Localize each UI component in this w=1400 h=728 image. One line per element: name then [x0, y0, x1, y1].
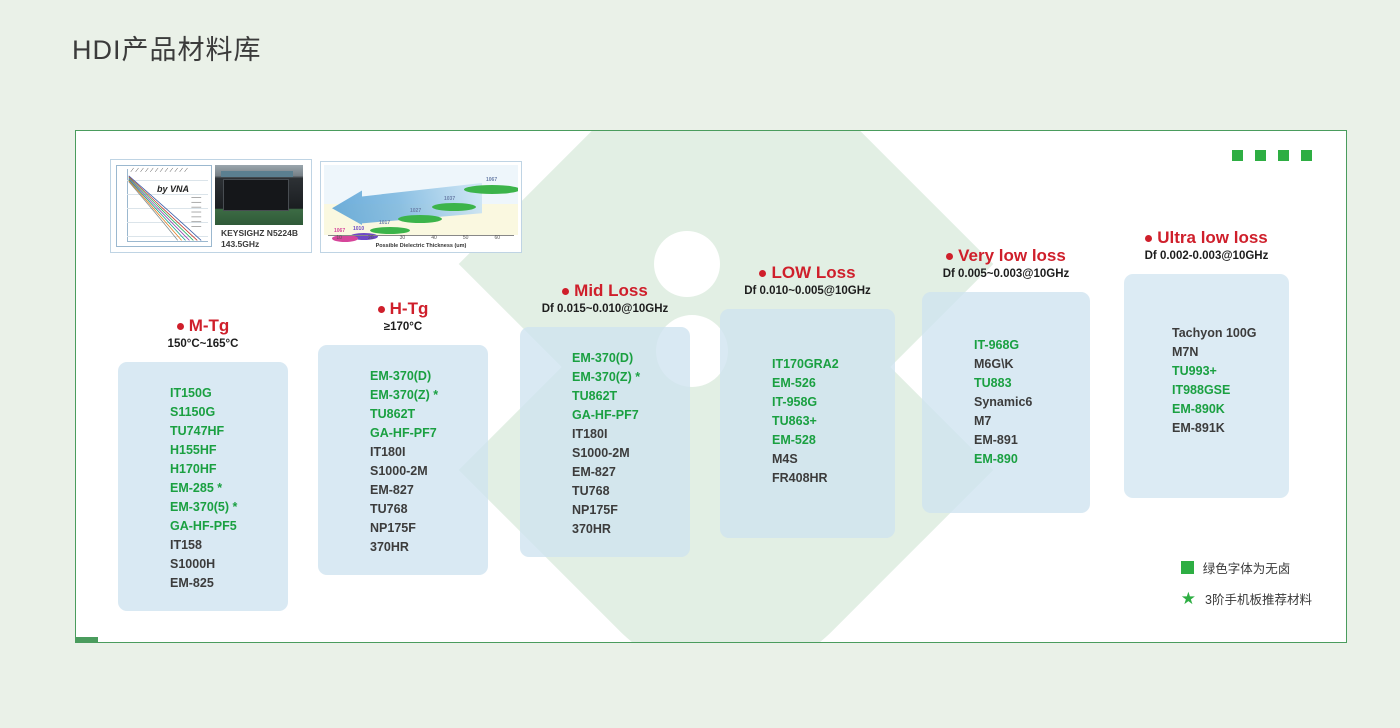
- material-item: IT988GSE: [1124, 381, 1289, 400]
- green-square-icon: [1255, 150, 1266, 161]
- material-list: IT150G S1150G TU747HF H155HF H170HF EM-2…: [118, 362, 288, 611]
- bullet-icon: [946, 253, 953, 260]
- column-title: Very low loss: [958, 246, 1066, 266]
- glass-style-label: 1067: [486, 177, 497, 183]
- column-title-wrap: H-Tg: [378, 299, 429, 319]
- material-list: Tachyon 100G M7N TU993+ IT988GSE EM-890K…: [1124, 274, 1289, 498]
- material-item: EM-825: [118, 574, 288, 593]
- material-item: EM-890: [922, 450, 1090, 469]
- vna-curves-icon: [117, 166, 211, 246]
- vna-caption-line2: 143.5GHz: [221, 239, 298, 250]
- material-item: GA-HF-PF7: [318, 424, 488, 443]
- glass-style-label: 1017: [379, 220, 390, 226]
- material-item: EM-827: [318, 481, 488, 500]
- material-item: S1150G: [118, 403, 288, 422]
- glass-style-label: 1010: [353, 226, 364, 232]
- legend-label: 绿色字体为无卤: [1203, 558, 1291, 577]
- column-subtitle: Df 0.015~0.010@10GHz: [520, 303, 690, 315]
- material-item: EM-285 *: [118, 479, 288, 498]
- material-item: EM-370(5) *: [118, 498, 288, 517]
- vna-measurement-panel: by VNA KEYSIGHZ N5224B 143.5GHz: [110, 159, 312, 253]
- column-title-wrap: Mid Loss: [562, 281, 648, 301]
- material-item: S1000H: [118, 555, 288, 574]
- bullet-icon: [378, 306, 385, 313]
- vna-instrument-photo: [215, 165, 303, 225]
- material-item: 370HR: [318, 538, 488, 557]
- legend: 绿色字体为无卤 ★ 3阶手机板推荐材料: [1181, 558, 1312, 620]
- tick-label: 60: [494, 235, 500, 241]
- legend-item-halogen-free: 绿色字体为无卤: [1181, 558, 1312, 577]
- bullet-icon: [1145, 235, 1152, 242]
- bullet-icon: [562, 288, 569, 295]
- bullet-icon: [759, 270, 766, 277]
- material-item: EM-370(Z) *: [318, 386, 488, 405]
- material-item: EM-370(D): [520, 349, 690, 368]
- material-item: M7: [922, 412, 1090, 431]
- tick-label: 30: [400, 235, 406, 241]
- glass-style-marker: [370, 227, 410, 234]
- material-item: IT158: [118, 536, 288, 555]
- legend-label: 3阶手机板推荐材料: [1205, 589, 1312, 608]
- vna-chart-image: by VNA: [116, 165, 212, 247]
- material-item: EM-370(D): [318, 367, 488, 386]
- column-h-tg: H-Tg ≥170°C EM-370(D) EM-370(Z) * TU862T…: [318, 299, 488, 575]
- column-header: M-Tg 150°C~165°C: [118, 316, 288, 350]
- legend-item-recommended: ★ 3阶手机板推荐材料: [1181, 589, 1312, 608]
- material-item: IT180I: [318, 443, 488, 462]
- column-low-loss: LOW Loss Df 0.010~0.005@10GHz IT170GRA2 …: [720, 263, 895, 538]
- green-square-icon: [1232, 150, 1243, 161]
- column-title-wrap: Ultra low loss: [1145, 228, 1268, 248]
- material-item: EM-528: [720, 431, 895, 450]
- column-title: H-Tg: [390, 299, 429, 319]
- material-item: GA-HF-PF7: [520, 406, 690, 425]
- material-item: EM-891: [922, 431, 1090, 450]
- column-header: Very low loss Df 0.005~0.003@10GHz: [922, 246, 1090, 280]
- material-item: IT150G: [118, 384, 288, 403]
- column-title-wrap: LOW Loss: [759, 263, 855, 283]
- material-list: IT170GRA2 EM-526 IT-958G TU863+ EM-528 M…: [720, 309, 895, 538]
- material-item: FR408HR: [720, 469, 895, 488]
- column-subtitle: Df 0.005~0.003@10GHz: [922, 268, 1090, 280]
- material-item: M6G\K: [922, 355, 1090, 374]
- material-item: TU747HF: [118, 422, 288, 441]
- column-ultra-low-loss: Ultra low loss Df 0.002-0.003@10GHz Tach…: [1124, 228, 1289, 498]
- material-item: NP175F: [520, 501, 690, 520]
- material-item: TU862T: [318, 405, 488, 424]
- material-item: Tachyon 100G: [1124, 324, 1289, 343]
- glass-style-label: 1027: [410, 208, 421, 214]
- material-item: EM-891K: [1124, 419, 1289, 438]
- material-item: H155HF: [118, 441, 288, 460]
- column-title: M-Tg: [189, 316, 230, 336]
- column-header: Ultra low loss Df 0.002-0.003@10GHz: [1124, 228, 1289, 262]
- main-card: by VNA KEYSIGHZ N5224B 143.5GHz 1067 103…: [75, 130, 1347, 643]
- material-item: TU862T: [520, 387, 690, 406]
- tick-label: 10: [336, 235, 342, 241]
- green-squares-decoration: [1232, 150, 1312, 161]
- material-item: EM-370(Z) *: [520, 368, 690, 387]
- material-item: IT-968G: [922, 336, 1090, 355]
- material-item: H170HF: [118, 460, 288, 479]
- material-list: EM-370(D) EM-370(Z) * TU862T GA-HF-PF7 I…: [318, 345, 488, 575]
- material-item: S1000-2M: [318, 462, 488, 481]
- material-item: TU863+: [720, 412, 895, 431]
- tick-label: 20: [368, 235, 374, 241]
- page-title: HDI产品材料库: [72, 28, 262, 67]
- material-item: IT170GRA2: [720, 355, 895, 374]
- material-item: Synamic6: [922, 393, 1090, 412]
- column-very-low-loss: Very low loss Df 0.005~0.003@10GHz IT-96…: [922, 246, 1090, 513]
- green-square-icon: [1301, 150, 1312, 161]
- column-subtitle: 150°C~165°C: [118, 338, 288, 350]
- material-item: S1000-2M: [520, 444, 690, 463]
- material-item: 370HR: [520, 520, 690, 539]
- vna-chart-label: by VNA: [157, 184, 189, 194]
- column-mid-loss: Mid Loss Df 0.015~0.010@10GHz EM-370(D) …: [520, 281, 690, 557]
- glass-style-label: 1067: [334, 228, 345, 234]
- column-title: Ultra low loss: [1157, 228, 1268, 248]
- column-header: Mid Loss Df 0.015~0.010@10GHz: [520, 281, 690, 315]
- column-title: LOW Loss: [771, 263, 855, 283]
- material-list: IT-968G M6G\K TU883 Synamic6 M7 EM-891 E…: [922, 292, 1090, 513]
- material-item: TU768: [318, 500, 488, 519]
- bullet-icon: [177, 323, 184, 330]
- column-subtitle: Df 0.002-0.003@10GHz: [1124, 250, 1289, 262]
- material-item: TU883: [922, 374, 1090, 393]
- green-square-icon: [1181, 561, 1194, 574]
- column-subtitle: Df 0.010~0.005@10GHz: [720, 285, 895, 297]
- star-icon: ★: [1181, 590, 1196, 607]
- glass-style-marker: [398, 215, 442, 223]
- glass-style-marker: [432, 203, 476, 211]
- material-item: EM-890K: [1124, 400, 1289, 419]
- column-title-wrap: Very low loss: [946, 246, 1066, 266]
- material-item: GA-HF-PF5: [118, 517, 288, 536]
- glass-style-label: 1037: [444, 196, 455, 202]
- vna-caption-line1: KEYSIGHZ N5224B: [221, 228, 298, 239]
- thickness-axis-ticks: 10 20 30 40 50 60: [328, 235, 514, 243]
- material-item: IT180I: [520, 425, 690, 444]
- glass-style-marker: [464, 185, 518, 194]
- dielectric-thickness-panel: 1067 1037 1027 1017 1010 1067 10 20 30 4…: [320, 161, 522, 253]
- tick-label: 40: [431, 235, 437, 241]
- material-item: EM-526: [720, 374, 895, 393]
- column-title: Mid Loss: [574, 281, 648, 301]
- column-title-wrap: M-Tg: [177, 316, 230, 336]
- column-subtitle: ≥170°C: [318, 321, 488, 333]
- column-header: H-Tg ≥170°C: [318, 299, 488, 333]
- material-item: M7N: [1124, 343, 1289, 362]
- column-header: LOW Loss Df 0.010~0.005@10GHz: [720, 263, 895, 297]
- vna-caption: KEYSIGHZ N5224B 143.5GHz: [221, 228, 298, 251]
- green-square-icon: [1278, 150, 1289, 161]
- material-item: IT-958G: [720, 393, 895, 412]
- thickness-axis-label: Possible Dielectric Thickness (um): [324, 243, 518, 249]
- material-item: EM-827: [520, 463, 690, 482]
- tick-label: 50: [463, 235, 469, 241]
- material-list: EM-370(D) EM-370(Z) * TU862T GA-HF-PF7 I…: [520, 327, 690, 557]
- material-item: TU993+: [1124, 362, 1289, 381]
- material-item: TU768: [520, 482, 690, 501]
- material-item: NP175F: [318, 519, 488, 538]
- material-item: M4S: [720, 450, 895, 469]
- column-m-tg: M-Tg 150°C~165°C IT150G S1150G TU747HF H…: [118, 316, 288, 611]
- card-corner-accent: [76, 637, 98, 642]
